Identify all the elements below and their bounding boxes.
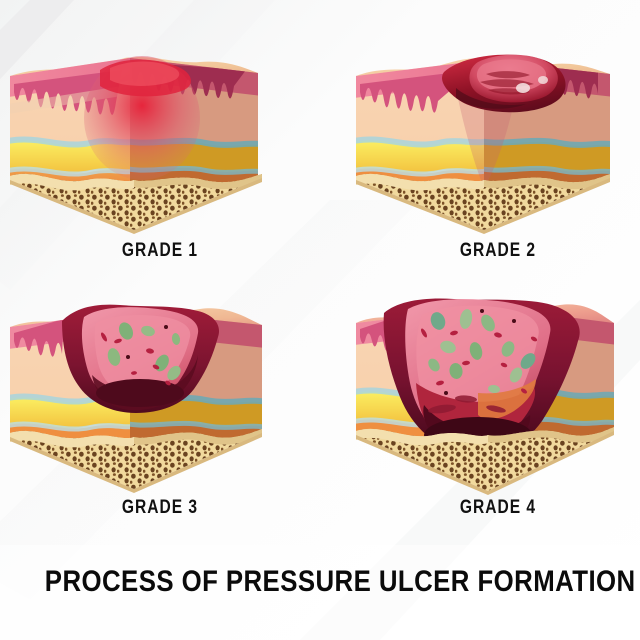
- grade-3-illustration: [0, 275, 320, 497]
- grade-3-label: GRADE 3: [29, 497, 291, 519]
- grade-1-label: GRADE 1: [29, 240, 291, 262]
- grade-4-illustration: [338, 275, 640, 497]
- grade-4-label: GRADE 4: [367, 497, 629, 519]
- grade-3-cell: GRADE 3: [0, 275, 320, 550]
- grade-1-cell: GRADE 1: [0, 18, 320, 293]
- grade-2-cell: GRADE 2: [338, 18, 640, 293]
- grade-1-illustration: [0, 18, 320, 240]
- grades-grid: GRADE 1: [0, 0, 640, 545]
- grade-2-label: GRADE 2: [367, 240, 629, 262]
- blister-highlight-a: [516, 83, 530, 93]
- grade-2-illustration: [338, 18, 640, 240]
- crater-depth: [96, 379, 184, 407]
- grade-4-cell: GRADE 4: [338, 275, 640, 550]
- blister-highlight-b: [538, 76, 548, 84]
- page-title: PROCESS OF PRESSURE ULCER FORMATION: [45, 565, 595, 599]
- illustration-canvas: GRADE 1: [0, 0, 640, 640]
